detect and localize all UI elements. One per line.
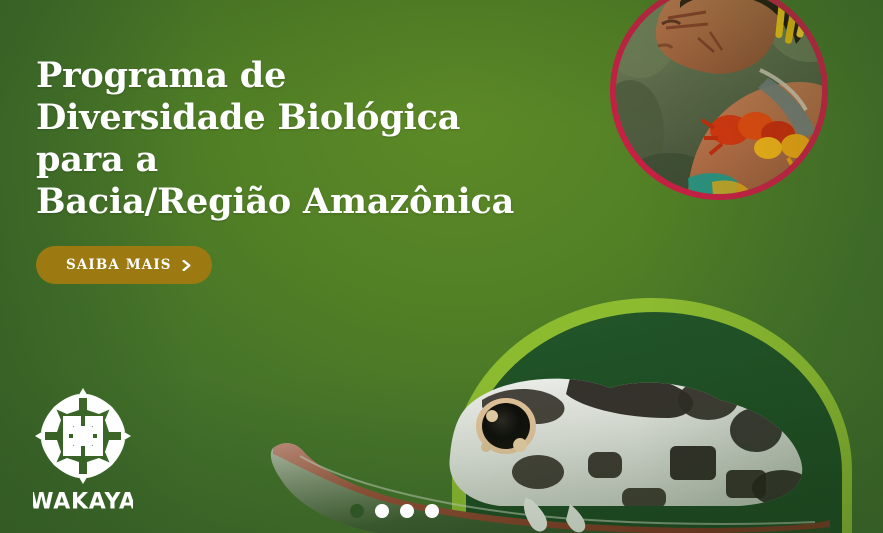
chevron-right-icon	[181, 260, 192, 271]
frog-shape	[430, 360, 830, 520]
indigenous-child-portrait	[610, 0, 828, 200]
headline-line-2: Diversidade Biológica	[36, 97, 596, 139]
wakaya-wordmark: WAKAYA	[33, 488, 133, 514]
page-title: Programa de Diversidade Biológica para a…	[36, 55, 596, 223]
wakaya-logo[interactable]: WAKAYA	[33, 386, 135, 514]
headline-line-4: Bacia/Região Amazônica	[36, 181, 596, 223]
hero-banner: Programa de Diversidade Biológica para a…	[0, 0, 883, 533]
carousel-dot-3[interactable]	[400, 504, 414, 518]
headline-line-1: Programa de	[36, 55, 596, 97]
carousel-dot-1[interactable]	[350, 504, 364, 518]
cta-label: SAIBA MAIS	[66, 257, 172, 273]
portrait-svg	[610, 0, 828, 200]
carousel-pagination[interactable]	[350, 504, 439, 518]
carousel-dot-4[interactable]	[425, 504, 439, 518]
saiba-mais-button[interactable]: SAIBA MAIS	[36, 246, 212, 284]
wakaya-wordmark-text: WAKAYA	[33, 490, 133, 515]
headline-line-3: para a	[36, 139, 596, 181]
carousel-dot-2[interactable]	[375, 504, 389, 518]
wakaya-mandala-icon	[33, 386, 133, 486]
